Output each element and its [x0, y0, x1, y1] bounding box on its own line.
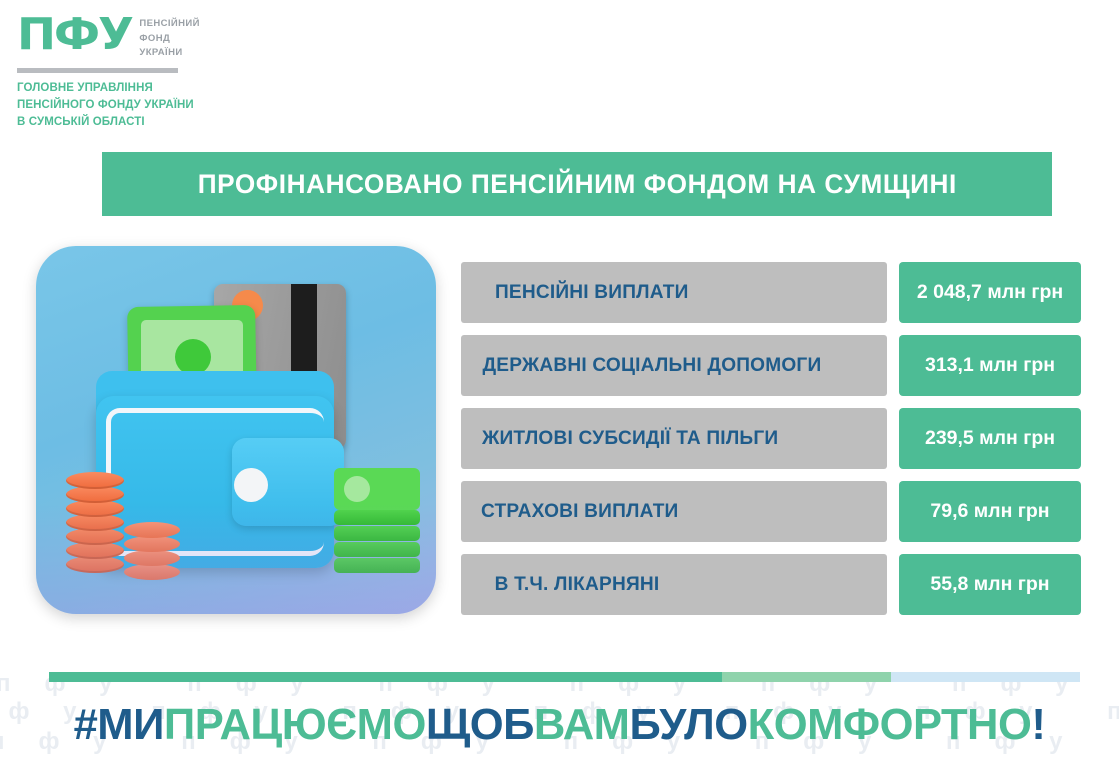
coin-icon: [124, 564, 180, 580]
cash-stack-icon: [334, 558, 420, 573]
hashtag-segment-6: КОМФОРТНО: [748, 700, 1032, 749]
wallet-button-icon: [234, 468, 268, 502]
logo-word-2: ФОНД: [139, 32, 199, 47]
hashtag-segment-1: #МИ: [74, 700, 164, 749]
row-label-cell: СТРАХОВІ ВИПЛАТИ: [461, 481, 887, 542]
row-value-cell: 313,1 млн грн: [899, 335, 1081, 396]
row-label-text: ДЕРЖАВНІ СОЦІАЛЬНІ ДОПОМОГИ: [482, 354, 821, 377]
row-value-cell: 79,6 млн грн: [899, 481, 1081, 542]
row-value-text: 239,5 млн грн: [925, 427, 1055, 450]
table-row: ПЕНСІЙНІ ВИПЛАТИ 2 048,7 млн грн: [461, 262, 1081, 323]
hashtag-segment-3: ЩОБ: [426, 700, 534, 749]
row-label-text: В Т.Ч. ЛІКАРНЯНІ: [495, 573, 660, 596]
accent-bar: [49, 672, 1080, 682]
row-value-cell: 2 048,7 млн грн: [899, 262, 1081, 323]
row-label-cell: В Т.Ч. ЛІКАРНЯНІ: [461, 554, 887, 615]
row-label-text: СТРАХОВІ ВИПЛАТИ: [481, 500, 678, 523]
hashtag-segment-7: !: [1031, 700, 1045, 749]
cash-stack-icon: [334, 542, 420, 557]
coin-icon: [124, 536, 180, 552]
coin-icon: [66, 514, 124, 531]
row-label-text: ЖИТЛОВІ СУБСИДІЇ ТА ПІЛЬГИ: [482, 427, 778, 450]
row-value-text: 313,1 млн грн: [925, 354, 1055, 377]
coin-icon: [66, 556, 124, 573]
page-title: ПРОФІНАНСОВАНО ПЕНСІЙНИМ ФОНДОМ НА СУМЩИ…: [197, 169, 956, 200]
row-value-text: 79,6 млн грн: [930, 500, 1049, 523]
coin-icon: [124, 550, 180, 566]
footer-band: пфу пфу пфу пфу пфу пфу пфу пфу пфу пфу …: [0, 672, 1119, 770]
organization-logo-block: ПФУ ПЕНСІЙНИЙ ФОНД УКРАЇНИ ГОЛОВНЕ УПРАВ…: [17, 14, 237, 130]
financing-table: ПЕНСІЙНІ ВИПЛАТИ 2 048,7 млн грн ДЕРЖАВН…: [461, 262, 1081, 627]
table-row: СТРАХОВІ ВИПЛАТИ 79,6 млн грн: [461, 481, 1081, 542]
coin-icon: [66, 542, 124, 559]
coin-icon: [66, 472, 124, 489]
accent-segment-light-blue: [891, 672, 1080, 682]
cash-stack-icon: [334, 510, 420, 525]
cash-seal-icon: [344, 476, 370, 502]
logo-full-name: ПЕНСІЙНИЙ ФОНД УКРАЇНИ: [139, 17, 199, 61]
cash-stack-icon: [334, 526, 420, 541]
row-label-cell: ЖИТЛОВІ СУБСИДІЇ ТА ПІЛЬГИ: [461, 408, 887, 469]
row-value-text: 2 048,7 млн грн: [917, 281, 1063, 304]
regional-department-name: ГОЛОВНЕ УПРАВЛІННЯ ПЕНСІЙНОГО ФОНДУ УКРА…: [17, 80, 237, 130]
coin-icon: [124, 522, 180, 538]
row-value-cell: 239,5 млн грн: [899, 408, 1081, 469]
department-line-2: ПЕНСІЙНОГО ФОНДУ УКРАЇНИ: [17, 97, 237, 114]
hashtag-segment-4: ВАМ: [534, 700, 630, 749]
row-label-cell: ДЕРЖАВНІ СОЦІАЛЬНІ ДОПОМОГИ: [461, 335, 887, 396]
department-line-1: ГОЛОВНЕ УПРАВЛІННЯ: [17, 80, 237, 97]
logo-word-1: ПЕНСІЙНИЙ: [139, 17, 199, 32]
row-value-text: 55,8 млн грн: [930, 573, 1049, 596]
page-title-banner: ПРОФІНАНСОВАНО ПЕНСІЙНИМ ФОНДОМ НА СУМЩИ…: [102, 152, 1052, 216]
department-line-3: В СУМСЬКІЙ ОБЛАСТІ: [17, 114, 237, 131]
table-row: ДЕРЖАВНІ СОЦІАЛЬНІ ДОПОМОГИ 313,1 млн гр…: [461, 335, 1081, 396]
pfu-logo-mark: ПФУ: [17, 14, 132, 56]
campaign-hashtag: #МИПРАЦЮЄМОЩОБВАМБУЛОКОМФОРТНО!: [6, 700, 1114, 750]
banknote-seal-icon: [175, 339, 211, 375]
accent-segment-green: [49, 672, 722, 682]
wallet-money-illustration: [36, 246, 436, 614]
illustration-backdrop: [36, 246, 436, 614]
hashtag-segment-5: БУЛО: [629, 700, 747, 749]
logo-word-3: УКРАЇНИ: [139, 46, 199, 61]
coin-icon: [66, 528, 124, 545]
table-row: В Т.Ч. ЛІКАРНЯНІ 55,8 млн грн: [461, 554, 1081, 615]
accent-segment-light-green: [722, 672, 891, 682]
row-value-cell: 55,8 млн грн: [899, 554, 1081, 615]
hashtag-segment-2: ПРАЦЮЄМО: [164, 700, 426, 749]
row-label-cell: ПЕНСІЙНІ ВИПЛАТИ: [461, 262, 887, 323]
logo-row: ПФУ ПЕНСІЙНИЙ ФОНД УКРАЇНИ: [17, 14, 237, 61]
row-label-text: ПЕНСІЙНІ ВИПЛАТИ: [495, 281, 689, 304]
logo-divider: [17, 68, 178, 73]
table-row: ЖИТЛОВІ СУБСИДІЇ ТА ПІЛЬГИ 239,5 млн грн: [461, 408, 1081, 469]
